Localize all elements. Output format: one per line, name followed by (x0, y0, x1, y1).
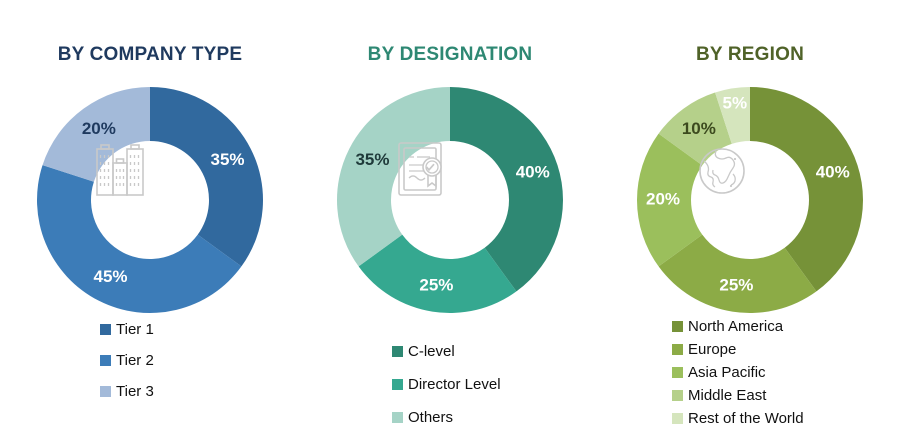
legend-item-label: C-level (408, 344, 455, 359)
page-title-designation: BY DESIGNATION (300, 44, 600, 66)
legend-item-label: Rest of the World (688, 411, 804, 426)
donut-chart-region: 40%25%20%10%5% (600, 85, 900, 315)
slice-value-label: 40% (516, 163, 550, 182)
slice-value-label: 35% (355, 150, 389, 169)
legend-item[interactable]: Middle East (672, 388, 900, 403)
legend-swatch-icon (392, 346, 403, 357)
slice-value-label: 40% (816, 163, 850, 182)
slice-value-label: 20% (82, 119, 116, 138)
donut-svg-designation: 40%25%35% (330, 85, 570, 315)
legend-swatch-icon (100, 324, 111, 335)
page-title-company-type: BY COMPANY TYPE (0, 44, 300, 66)
slice-value-label: 20% (646, 189, 680, 208)
legend-swatch-icon (392, 379, 403, 390)
legend-swatch-icon (672, 390, 683, 401)
legend-item-label: Director Level (408, 377, 501, 392)
legend-swatch-icon (392, 412, 403, 423)
donut-slice[interactable] (337, 87, 450, 266)
legend-item-label: Middle East (688, 388, 766, 403)
chart-panel-company-type: BY COMPANY TYPE 35%45%20% (0, 0, 300, 444)
legend-item-label: Asia Pacific (688, 365, 766, 380)
slice-value-label: 45% (93, 267, 127, 286)
legend-swatch-icon (100, 386, 111, 397)
legend-item-label: Tier 3 (116, 384, 154, 399)
legend-swatch-icon (100, 355, 111, 366)
legend-swatch-icon (672, 321, 683, 332)
legend-item-label: Others (408, 410, 453, 425)
legend-item[interactable]: North America (672, 319, 900, 334)
legend-item-label: North America (688, 319, 783, 334)
legend-region: North AmericaEuropeAsia PacificMiddle Ea… (600, 319, 900, 434)
legend-swatch-icon (672, 367, 683, 378)
legend-item[interactable]: Asia Pacific (672, 365, 900, 380)
donut-slice[interactable] (150, 87, 263, 266)
page-title-region: BY REGION (600, 44, 900, 66)
slice-value-label: 10% (682, 119, 716, 138)
slice-value-label: 25% (719, 275, 753, 294)
legend-item-label: Tier 2 (116, 353, 154, 368)
legend-swatch-icon (672, 344, 683, 355)
donut-svg-company-type: 35%45%20% (30, 85, 270, 315)
legend-swatch-icon (672, 413, 683, 424)
slice-value-label: 25% (419, 275, 453, 294)
legend-item-label: Europe (688, 342, 736, 357)
legend-item-label: Tier 1 (116, 322, 154, 337)
slice-value-label: 5% (723, 94, 748, 113)
slice-value-label: 35% (211, 150, 245, 169)
chart-panel-region: BY REGION 40%25%20%10%5% North AmericaEu… (600, 0, 900, 444)
donut-svg-region: 40%25%20%10%5% (630, 85, 870, 315)
legend-item[interactable]: Rest of the World (672, 411, 900, 426)
legend-item[interactable]: Europe (672, 342, 900, 357)
breakdown-charts-board: BY COMPANY TYPE 35%45%20% (0, 0, 900, 444)
donut-chart-designation: 40%25%35% (300, 85, 600, 315)
chart-panel-designation: BY DESIGNATION 40%25%35% C- (300, 0, 600, 444)
donut-chart-company-type: 35%45%20% (0, 85, 300, 315)
